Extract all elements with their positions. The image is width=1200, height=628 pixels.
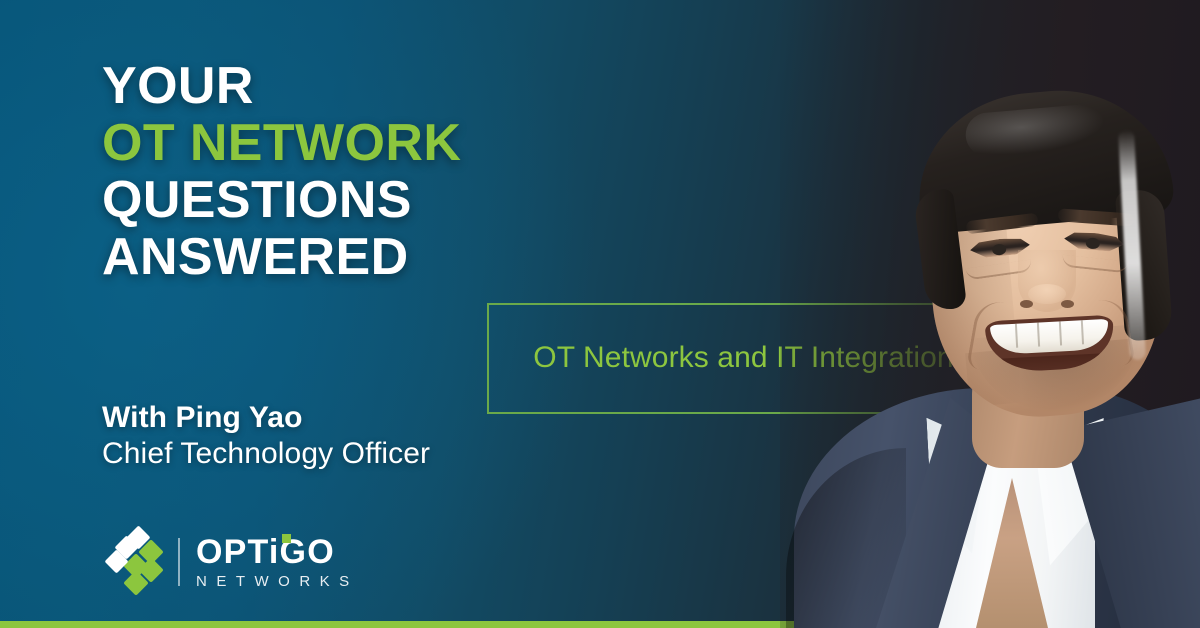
headline-line-3: QUESTIONS <box>102 172 532 229</box>
headline-line-1: YOUR <box>102 58 532 115</box>
webinar-promo-banner: YOUR OT NETWORK QUESTIONS ANSWERED OT Ne… <box>0 0 1200 628</box>
headline-line-4: ANSWERED <box>102 229 532 286</box>
logo-wordmark-sub: NETWORKS <box>196 574 359 589</box>
logo-word-part-1: OPT <box>196 533 269 571</box>
headline: YOUR OT NETWORK QUESTIONS ANSWERED <box>102 58 532 286</box>
speaker-name: With Ping Yao <box>102 400 542 436</box>
headline-line-2-accent: OT NETWORK <box>102 115 532 172</box>
portrait-figure <box>780 0 1200 628</box>
logo-word-part-i: i <box>269 533 280 571</box>
portrait-teeth <box>990 319 1109 355</box>
portrait-nose-tip <box>1028 284 1066 304</box>
speaker-role: Chief Technology Officer <box>102 436 542 472</box>
speaker-credit: With Ping Yao Chief Technology Officer <box>102 400 542 472</box>
speaker-portrait-photo <box>780 0 1200 628</box>
optigo-diamond-mark-icon <box>108 531 164 593</box>
portrait-smiling-mouth <box>985 315 1116 374</box>
logo-i-dot-accent <box>282 534 291 543</box>
portrait-nostril-right <box>1061 300 1074 308</box>
optigo-networks-logo: OPTiGO NETWORKS <box>108 526 359 598</box>
logo-wordmark-main: OPTiGO <box>196 535 359 569</box>
logo-wordmark: OPTiGO NETWORKS <box>196 535 359 589</box>
logo-divider <box>178 538 180 586</box>
portrait-hair-sheen <box>964 103 1107 159</box>
portrait-nostril-left <box>1020 300 1033 308</box>
portrait-nose <box>1018 250 1076 312</box>
